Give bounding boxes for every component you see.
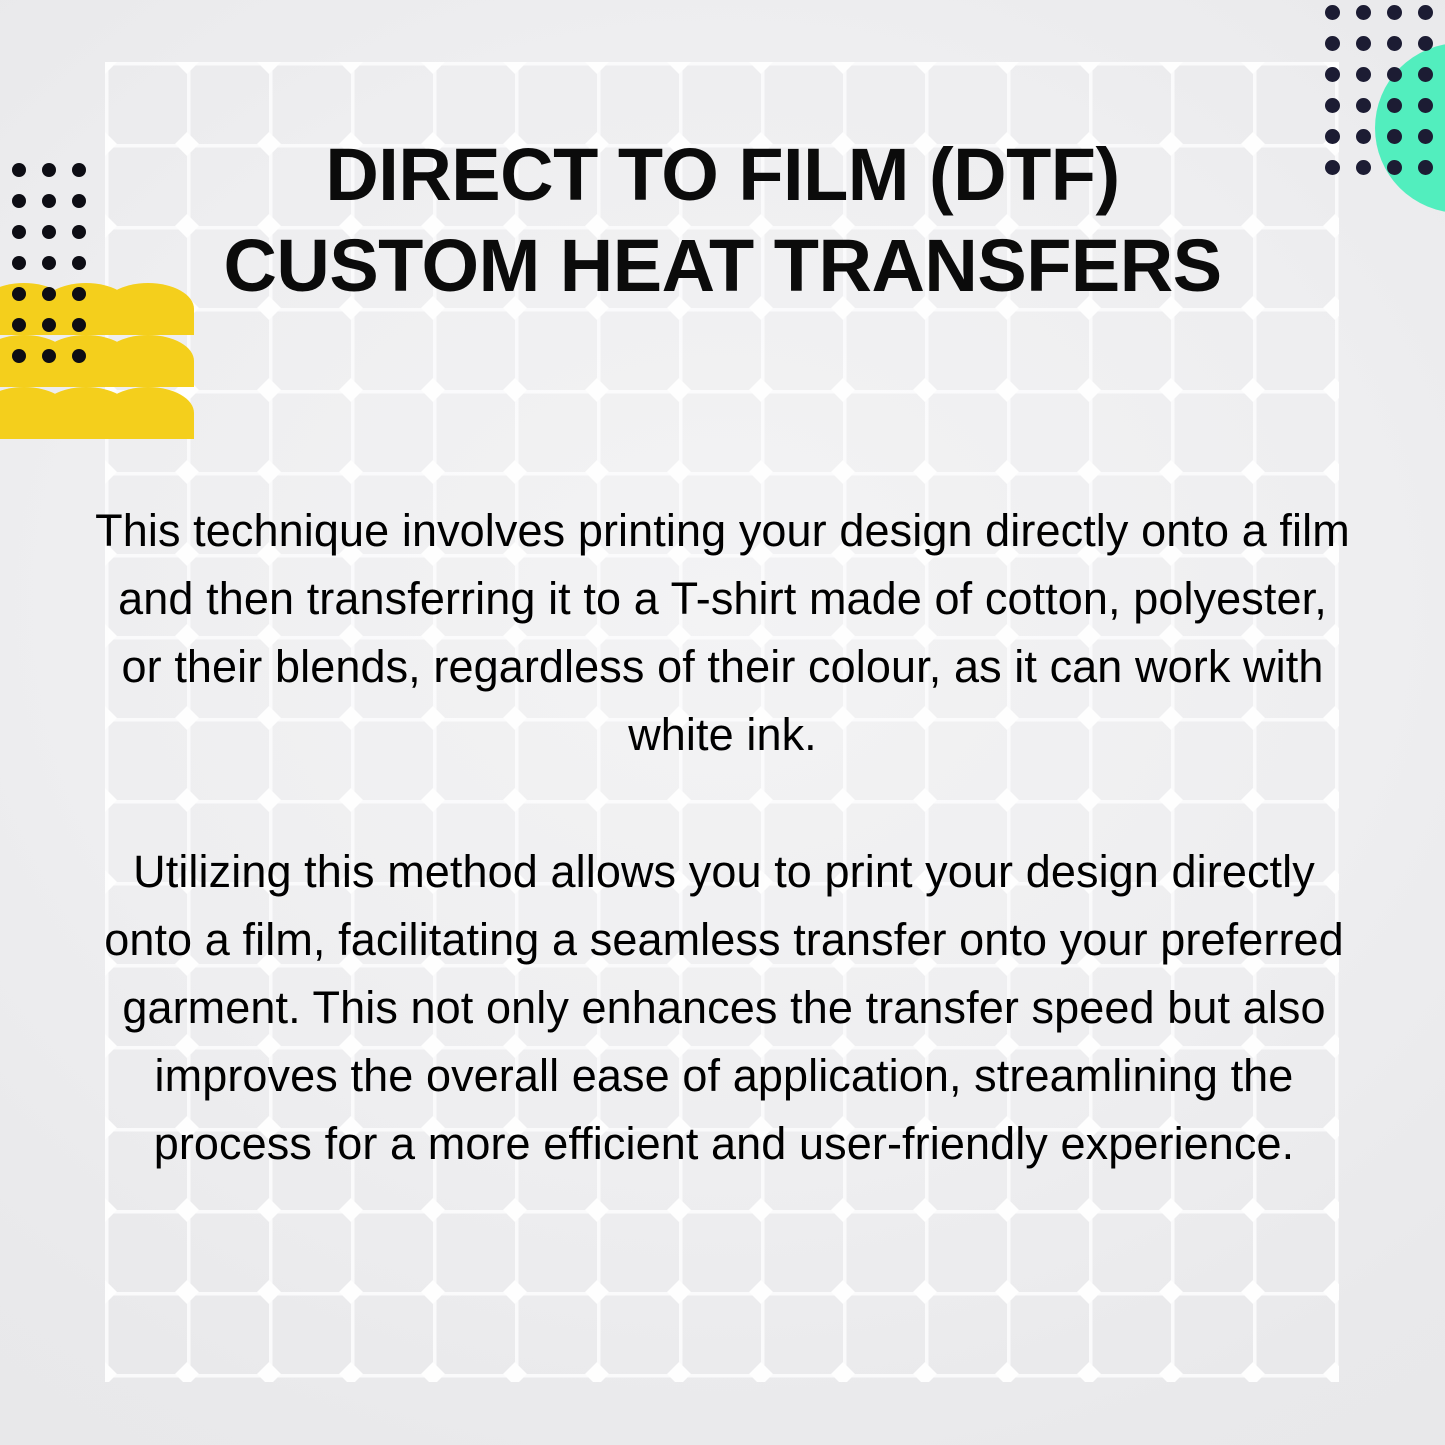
title-line-2: CUSTOM HEAT TRANSFERS xyxy=(120,229,1325,302)
body-paragraph-1: This technique involves printing your de… xyxy=(95,497,1350,769)
title-line-1: DIRECT TO FILM (DTF) xyxy=(120,138,1325,211)
poster-canvas: DIRECT TO FILM (DTF) CUSTOM HEAT TRANSFE… xyxy=(0,0,1445,1445)
body-paragraph-2: Utilizing this method allows you to prin… xyxy=(88,838,1360,1178)
page-title: DIRECT TO FILM (DTF) CUSTOM HEAT TRANSFE… xyxy=(120,138,1325,303)
poster-content: DIRECT TO FILM (DTF) CUSTOM HEAT TRANSFE… xyxy=(0,0,1445,1445)
